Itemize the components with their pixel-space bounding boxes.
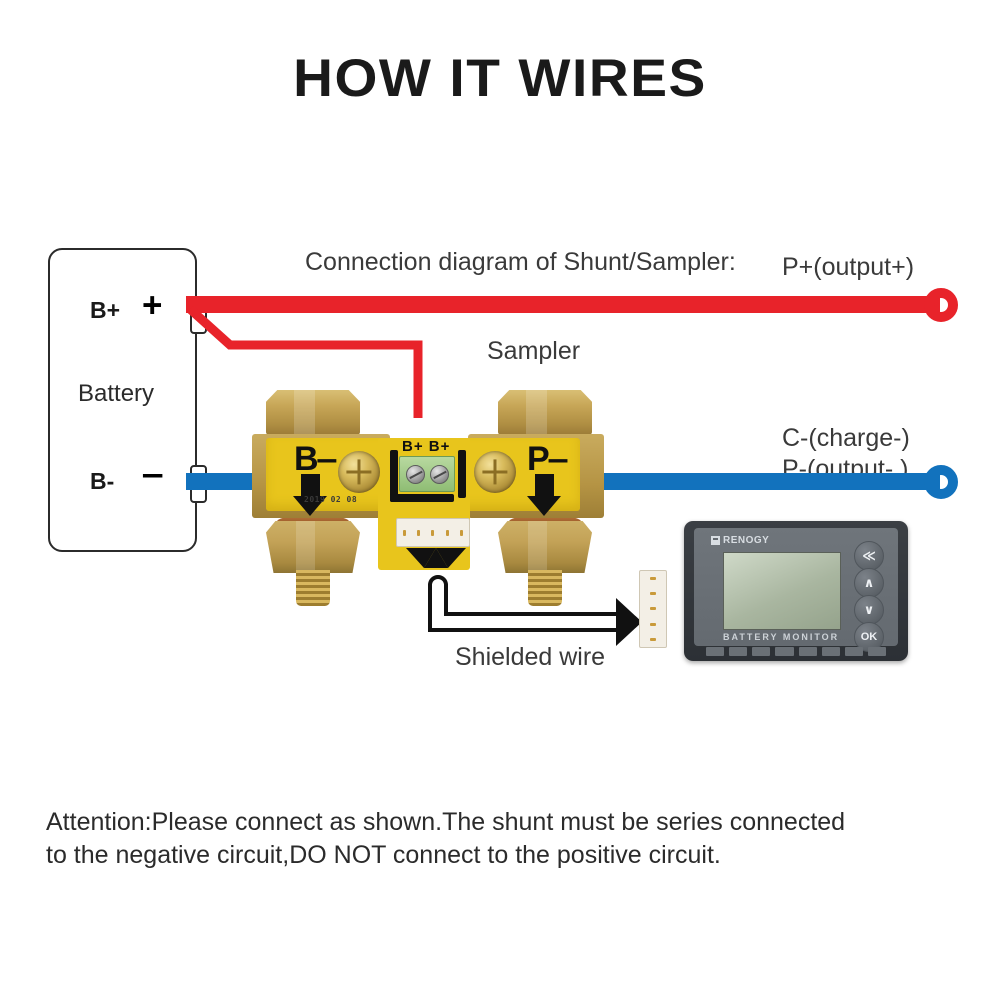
wire-negative-right — [588, 473, 940, 490]
shunt-terminal-block — [399, 456, 455, 492]
connection-diagram-caption: Connection diagram of Shunt/Sampler: — [305, 248, 736, 277]
shunt-right-thread — [528, 570, 562, 606]
monitor-lcd-screen — [723, 552, 841, 630]
attention-notice: Attention:Please connect as shown.The sh… — [46, 806, 956, 872]
charge-negative-label: C-(charge-) — [782, 424, 910, 453]
shielded-wire-label: Shielded wire — [455, 643, 605, 672]
shunt-left-screw — [338, 451, 380, 493]
monitor-up-button[interactable]: ∧ — [854, 568, 884, 598]
shunt-date-code: 2019 02 08 — [304, 495, 357, 504]
output-positive-label: P+(output+) — [782, 253, 914, 282]
monitor-down-button[interactable]: ∨ — [854, 595, 884, 625]
monitor-cable-connector — [639, 570, 667, 648]
attention-line-1: Attention:Please connect as shown.The sh… — [46, 806, 956, 839]
shunt-left-thread — [296, 570, 330, 606]
page-title: HOW IT WIRES — [0, 48, 1000, 109]
shunt-right-screw — [474, 451, 516, 493]
battery-positive-label: B+ — [90, 297, 120, 324]
shunt-trace-right — [458, 450, 466, 498]
shunt-jst-connector — [396, 518, 470, 547]
shunt-label-b-negative: B‒ — [294, 442, 335, 476]
battery-name: Battery — [78, 380, 154, 408]
ring-terminal-negative — [924, 465, 958, 499]
battery-box: B+ + Battery B- ‒ — [48, 248, 197, 552]
sampler-label: Sampler — [487, 337, 580, 366]
ring-terminal-positive — [924, 288, 958, 322]
shunt-sampler: B‒ P‒ B+ B+ 2019 02 08 — [252, 390, 604, 590]
shunt-label-p-negative: P‒ — [527, 442, 567, 476]
shunt-arrow-right-head — [527, 496, 561, 516]
battery-plus-sign: + — [142, 288, 162, 323]
shunt-trace-bottom — [390, 494, 454, 502]
battery-minus-sign: ‒ — [143, 456, 162, 491]
monitor-faceplate: RENOGY BATTERY MONITOR ≪ ∧ ∨ OK — [694, 528, 898, 646]
renogy-logo-mark — [711, 536, 720, 545]
shunt-left-nut — [266, 521, 360, 573]
renogy-brand-label: RENOGY — [723, 535, 769, 546]
attention-line-2: to the negative circuit,DO NOT connect t… — [46, 839, 956, 872]
monitor-bottom-vents — [706, 647, 886, 656]
monitor-back-button[interactable]: ≪ — [854, 541, 884, 571]
battery-negative-label: B- — [90, 468, 114, 495]
battery-monitor-device: RENOGY BATTERY MONITOR ≪ ∧ ∨ OK — [684, 521, 908, 661]
monitor-caption: BATTERY MONITOR — [723, 632, 839, 642]
diagram-canvas: HOW IT WIRES Connection diagram of Shunt… — [0, 0, 1000, 1000]
shunt-bplus-label: B+ B+ — [402, 438, 450, 455]
shunt-right-nut — [498, 521, 592, 573]
wire-positive-main — [186, 296, 940, 313]
